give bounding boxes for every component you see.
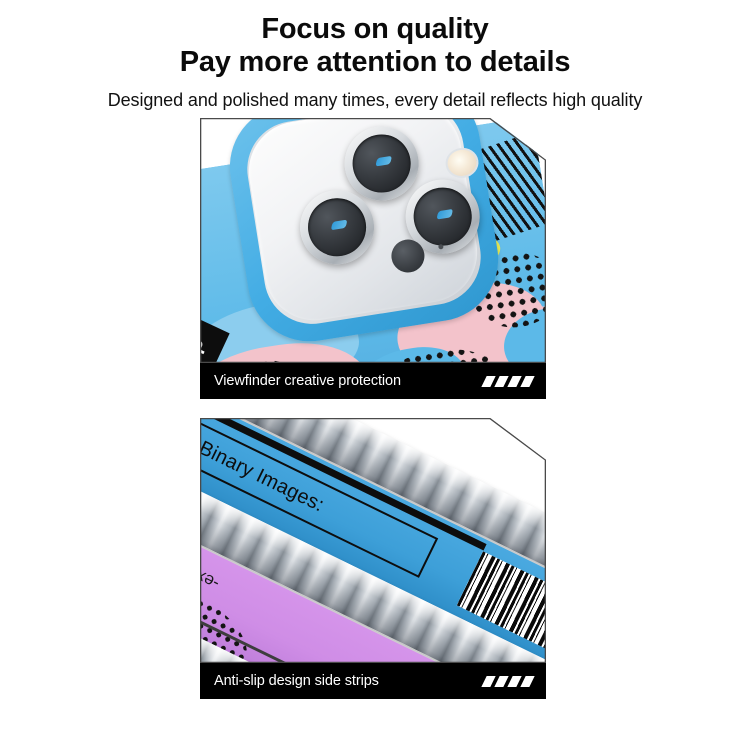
camera-plate — [242, 118, 485, 328]
side-strip-stack: Binary Images: NSION -extreme (0) — [200, 418, 546, 663]
anti-slip-caption-text: Anti-slip design side strips — [214, 673, 379, 689]
lens-glint-icon — [331, 220, 348, 230]
slash-mark — [481, 676, 495, 687]
slash-marks-icon — [484, 376, 532, 387]
lens-glass — [304, 194, 370, 260]
slash-mark — [494, 376, 508, 387]
headline-line-1: Focus on quality — [0, 13, 750, 46]
header: Focus on quality Pay more attention to d… — [0, 0, 750, 112]
subheadline: Designed and polished many times, every … — [0, 88, 750, 112]
slash-marks-icon — [484, 676, 532, 687]
viewfinder-caption-bar: Viewfinder creative protection — [200, 363, 546, 399]
anti-slip-photo: Binary Images: NSION -extreme (0) — [200, 418, 546, 663]
viewfinder-panel: POP — [200, 118, 546, 399]
viewfinder-photo: POP — [200, 118, 546, 363]
lens-glint-icon — [437, 209, 454, 219]
lens-glass — [410, 184, 476, 250]
anti-slip-panel: Binary Images: NSION -extreme (0) — [200, 418, 546, 699]
slash-mark — [507, 676, 521, 687]
lens-glint-icon — [376, 156, 393, 166]
slash-mark — [494, 676, 508, 687]
lens-glass — [349, 130, 415, 196]
headline-line-2: Pay more attention to details — [0, 46, 750, 79]
slash-mark — [520, 676, 534, 687]
viewfinder-caption-text: Viewfinder creative protection — [214, 373, 401, 389]
pop-label-text: POP — [200, 336, 214, 363]
product-detail-page: Focus on quality Pay more attention to d… — [0, 0, 750, 750]
slash-mark — [507, 376, 521, 387]
slash-mark — [520, 376, 534, 387]
anti-slip-caption-bar: Anti-slip design side strips — [200, 663, 546, 699]
slash-mark — [481, 376, 495, 387]
